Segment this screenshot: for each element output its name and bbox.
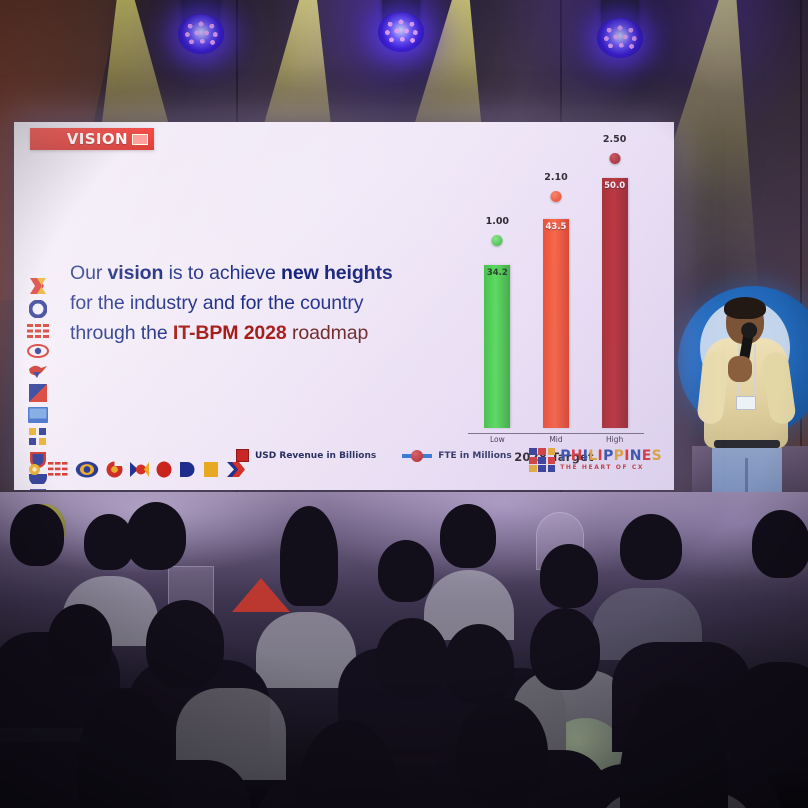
legend-label: FTE in Millions [438, 451, 511, 461]
screen-icon [28, 407, 48, 423]
fte-dot-high [609, 153, 620, 164]
slide-section-label: VISION [67, 130, 128, 148]
ring-icon [29, 300, 47, 318]
revenue-bar-low: 34.2 [484, 265, 510, 428]
fte-dot-mid [550, 191, 561, 202]
stage-light-par [597, 0, 643, 60]
par-leds [603, 24, 637, 52]
bowtie-icon [130, 461, 149, 478]
logo-mark-icon [529, 448, 555, 472]
audience-head [540, 544, 598, 608]
audience-head [146, 600, 224, 688]
audience-head [378, 540, 434, 602]
par-leds [184, 20, 218, 48]
logo-tagline: THE HEART OF CX [560, 465, 662, 471]
chart-x-axis [468, 433, 644, 434]
chart-legend: USD Revenue in Billions FTE in Millions [236, 449, 512, 462]
wall-seam [800, 0, 802, 501]
headline-line1: Our vision is to achieve new heights [70, 262, 393, 284]
split-square-icon [29, 384, 47, 402]
audience-head [376, 618, 448, 698]
speaker-figure [698, 300, 794, 515]
fte-label-high: 2.50 [603, 134, 626, 145]
ellipse-icon [156, 461, 172, 478]
bar-chart: 1.00 34.2 2.10 43.5 2.50 [454, 146, 654, 464]
ribbon-icon [28, 277, 48, 295]
eye-icon [75, 461, 99, 478]
bar-group-high: 2.50 50.0 [602, 156, 628, 428]
grid-dashes-icon [48, 462, 68, 476]
speaker-hand [728, 356, 752, 382]
philippines-logo: PHILIPPINES THE HEART OF CX [529, 448, 662, 472]
audience-head [456, 698, 548, 808]
audience-area [0, 492, 808, 808]
target-icon [106, 461, 123, 478]
stage-light-par [178, 0, 224, 56]
legend-line-dot-icon [402, 454, 432, 458]
arrow-icon [226, 461, 245, 478]
projection-screen: VISION Our vision is to achieve new heig… [14, 122, 674, 490]
stage-light-par [378, 0, 424, 54]
revenue-bar-mid: 43.5 [543, 219, 569, 428]
revenue-label-high: 50.0 [602, 181, 628, 191]
stage-scene: VISION Our vision is to achieve new heig… [0, 0, 808, 808]
legend-item-revenue: USD Revenue in Billions [236, 449, 376, 462]
tag-chip-icon [132, 134, 148, 145]
audience-head [440, 504, 496, 568]
legend-label: USD Revenue in Billions [255, 451, 376, 461]
legend-item-fte: FTE in Millions [402, 451, 511, 461]
speaker-belt [714, 440, 780, 448]
audience-head [530, 608, 600, 690]
headline-line2: for the industry and for the country [70, 292, 363, 314]
par-leds [384, 18, 418, 46]
fte-label-mid: 2.10 [544, 172, 567, 183]
audience-head [280, 506, 338, 606]
category-label: High [602, 435, 628, 448]
slide-section-tag: VISION [30, 128, 154, 150]
audience-head [48, 604, 112, 676]
fte-dot-low [492, 235, 503, 246]
logo-wordmark: PHILIPPINES [560, 449, 662, 463]
frame-icon [30, 489, 46, 490]
audience-head [752, 510, 808, 578]
bird-icon [28, 363, 48, 379]
audience-head [444, 624, 514, 704]
category-label: Mid [543, 435, 569, 448]
swirl-icon [28, 463, 41, 476]
headline-line3: through the IT-BPM 2028 roadmap [70, 322, 368, 344]
audience-head [10, 504, 64, 566]
revenue-bar-high: 50.0 [602, 178, 628, 428]
bar-group-low: 1.00 34.2 [484, 156, 510, 428]
speaker-hair [724, 297, 766, 319]
logo-text: PHILIPPINES THE HEART OF CX [560, 449, 662, 471]
audience-body [730, 662, 808, 772]
chart-bars: 1.00 34.2 2.10 43.5 2.50 [468, 156, 644, 428]
category-label: Low [484, 435, 510, 448]
letter-d-icon [179, 461, 195, 478]
chart-category-labels: Low Mid High [468, 435, 644, 448]
revenue-label-mid: 43.5 [543, 222, 569, 232]
four-squares-icon [29, 428, 47, 446]
slide-headline: Our vision is to achieve new heights for… [70, 258, 450, 348]
chart-plot-area: 1.00 34.2 2.10 43.5 2.50 [468, 156, 644, 428]
fte-label-low: 1.00 [486, 216, 509, 227]
half-disc-icon [202, 461, 219, 478]
legend-square-icon [236, 449, 249, 462]
audience-head [620, 514, 682, 580]
bar-group-mid: 2.10 43.5 [543, 156, 569, 428]
eye-icon [27, 344, 49, 358]
revenue-label-low: 34.2 [484, 268, 510, 278]
decor-icon-row [28, 456, 245, 482]
speaker-badge [736, 396, 756, 410]
grid-dashes-icon [27, 323, 49, 339]
audience-head [126, 502, 186, 570]
